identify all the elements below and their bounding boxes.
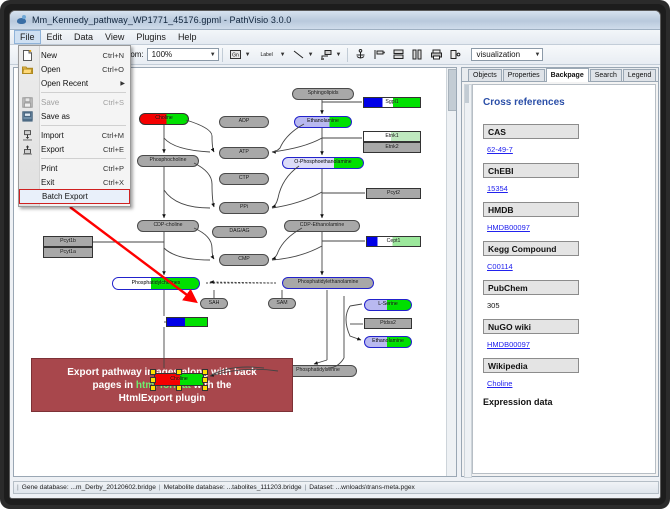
receptor-button[interactable] — [318, 46, 335, 63]
menu-data[interactable]: Data — [68, 30, 99, 44]
tab-legend[interactable]: Legend — [623, 69, 656, 81]
xref-cas: CAS 62-49-7 — [483, 124, 655, 157]
menu-item-save-label: Save — [41, 98, 59, 107]
tab-backpage[interactable]: Backpage — [546, 68, 589, 82]
submenu-arrow-icon: ▶ — [120, 80, 130, 87]
new-file-icon — [22, 50, 33, 61]
selection-handle-w[interactable] — [150, 377, 156, 383]
menu-item-export[interactable]: Export Ctrl+E — [19, 142, 130, 156]
menu-plugins[interactable]: Plugins — [130, 30, 172, 44]
menu-item-save-as[interactable]: Save as — [19, 109, 130, 123]
menu-item-batch-export-label: Batch Export — [42, 192, 88, 201]
menu-item-save[interactable]: Save Ctrl+S — [19, 95, 130, 109]
menu-item-open-accel: Ctrl+O — [102, 65, 130, 74]
statusbar-sep-1: | — [159, 484, 161, 491]
selection-handle-e[interactable] — [202, 377, 208, 383]
menu-edit[interactable]: Edit — [41, 30, 69, 44]
anchor-button[interactable] — [352, 46, 369, 63]
menu-item-print[interactable]: Print Ctrl+P — [19, 161, 130, 175]
menu-item-new[interactable]: New Ctrl+N — [19, 48, 130, 62]
pathvisio-app-icon — [16, 15, 27, 26]
node-chkb[interactable] — [166, 317, 208, 327]
save-icon — [22, 97, 33, 108]
backpage-content: Cross references CAS 62-49-7 ChEBI 15354… — [472, 84, 656, 474]
selection-handle-ne[interactable] — [202, 369, 208, 375]
menu-item-batch-export[interactable]: Batch Export — [19, 189, 130, 204]
menu-item-open-label: Open — [41, 65, 61, 74]
window-titlebar: Mm_Kennedy_pathway_WP1771_45176.gpml - P… — [10, 11, 660, 30]
backpage-scrollbar-thumb[interactable] — [465, 85, 469, 103]
menu-view[interactable]: View — [99, 30, 130, 44]
xref-wikipedia: Wikipedia Choline — [483, 358, 655, 391]
menubar[interactable]: File Edit Data View Plugins Help — [10, 30, 660, 45]
statusbar-metabolite-database: Metabolite database: ...tabolites_111203… — [164, 484, 302, 491]
xref-chebi-value[interactable]: 15354 — [487, 184, 508, 193]
datanode-dropdown-icon[interactable]: ▼ — [245, 52, 251, 58]
xref-nugo-value[interactable]: HMDB00097 — [487, 340, 530, 349]
align-cols-button[interactable] — [409, 46, 426, 63]
menu-item-exit-label: Exit — [41, 178, 54, 187]
svg-text:Gn: Gn — [232, 52, 239, 58]
toolbar-separator — [222, 48, 223, 62]
file-menu-dropdown[interactable]: New Ctrl+N Open Ctrl+O Open Recent ▶ Sav… — [18, 45, 131, 207]
chevron-down-icon-2: ▼ — [535, 52, 541, 58]
menu-item-new-label: New — [41, 51, 57, 60]
xref-pubchem-label: PubChem — [483, 280, 579, 295]
menu-item-print-label: Print — [41, 164, 57, 173]
menu-item-open-recent-label: Open Recent — [41, 79, 88, 88]
menu-item-import-accel: Ctrl+M — [102, 131, 130, 140]
menu-item-open-recent[interactable]: Open Recent ▶ — [19, 76, 130, 90]
menu-help[interactable]: Help — [172, 30, 203, 44]
canvas-scrollbar-thumb[interactable] — [448, 69, 457, 111]
xref-kegg-label: Kegg Compound — [483, 241, 579, 256]
selection-handle-se[interactable] — [202, 385, 208, 391]
align-rows-button[interactable] — [390, 46, 407, 63]
toolbar-separator-2 — [347, 48, 348, 62]
xref-nugo-wiki: NuGO wiki HMDB00097 — [483, 319, 655, 352]
visualization-value: visualization — [476, 50, 520, 59]
image-frame: Mm_Kennedy_pathway_WP1771_45176.gpml - P… — [0, 0, 670, 509]
tab-objects[interactable]: Objects — [468, 69, 502, 81]
xref-hmdb-label: HMDB — [483, 202, 579, 217]
pathvisio-window: Mm_Kennedy_pathway_WP1771_45176.gpml - P… — [9, 10, 661, 499]
xref-hmdb: HMDB HMDB00097 — [483, 202, 655, 235]
menu-item-exit-accel: Ctrl+X — [103, 178, 130, 187]
xref-kegg-compound: Kegg Compound C00114 — [483, 241, 655, 274]
xref-chebi-label: ChEBI — [483, 163, 579, 178]
menu-item-export-accel: Ctrl+E — [103, 145, 130, 154]
file-menu-separator-1 — [41, 92, 126, 93]
label-dropdown-icon[interactable]: ▼ — [280, 52, 286, 58]
xref-pubchem: PubChem 305 — [483, 280, 655, 313]
selection-handle-s[interactable] — [176, 385, 182, 391]
import-icon — [22, 130, 33, 141]
file-menu-separator-3 — [41, 158, 126, 159]
chevron-down-icon: ▼ — [210, 52, 216, 58]
selection-handle-sw[interactable] — [150, 385, 156, 391]
backpage-scrollbar[interactable] — [464, 84, 472, 478]
tab-search[interactable]: Search — [590, 69, 622, 81]
statusbar-dataset: Dataset: ...wnloads\trans-meta.pgex — [309, 484, 415, 491]
side-panel: Objects Properties Backpage Search Legen… — [461, 67, 659, 477]
align-left-button[interactable] — [371, 46, 388, 63]
line-button[interactable] — [290, 46, 307, 63]
menu-file[interactable]: File — [14, 30, 41, 44]
window-title: Mm_Kennedy_pathway_WP1771_45176.gpml - P… — [32, 15, 291, 25]
tab-properties[interactable]: Properties — [503, 69, 545, 81]
xref-kegg-value[interactable]: C00114 — [487, 262, 513, 271]
menu-item-new-accel: Ctrl+N — [103, 51, 130, 60]
xref-hmdb-value[interactable]: HMDB00097 — [487, 223, 530, 232]
cross-references-title: Cross references — [483, 97, 655, 108]
file-menu-separator-2 — [41, 125, 126, 126]
label-button-text: Label — [261, 52, 273, 58]
xref-pubchem-value: 305 — [487, 301, 500, 310]
group-button[interactable] — [447, 46, 464, 63]
selection-handle-nw[interactable] — [150, 369, 156, 375]
zoom-combo[interactable]: 100% ▼ — [147, 48, 219, 61]
save-as-icon — [22, 111, 33, 122]
xref-cas-value[interactable]: 62-49-7 — [487, 145, 513, 154]
zoom-value: 100% — [152, 50, 172, 59]
datanode-button[interactable]: Gn — [227, 46, 244, 63]
label-button[interactable]: Label — [255, 46, 279, 63]
folder-icon — [22, 64, 33, 75]
statusbar-sep-0: | — [17, 484, 19, 491]
visualization-combo[interactable]: visualization ▼ — [471, 48, 543, 61]
statusbar-gene-database: Gene database: ...m_Derby_20120602.bridg… — [22, 484, 156, 491]
xref-wikipedia-label: Wikipedia — [483, 358, 579, 373]
xref-cas-label: CAS — [483, 124, 579, 139]
statusbar-sep-2: | — [305, 484, 307, 491]
print-button[interactable] — [428, 46, 445, 63]
selection-handle-n[interactable] — [176, 369, 182, 375]
expression-data-title: Expression data — [483, 397, 655, 407]
menu-item-save-as-label: Save as — [41, 112, 70, 121]
export-icon — [22, 144, 33, 155]
menu-item-exit[interactable]: Exit Ctrl+X — [19, 175, 130, 189]
menu-item-import[interactable]: Import Ctrl+M — [19, 128, 130, 142]
receptor-dropdown-icon[interactable]: ▼ — [336, 52, 342, 58]
menu-item-open[interactable]: Open Ctrl+O — [19, 62, 130, 76]
menu-item-save-accel: Ctrl+S — [103, 98, 130, 107]
xref-chebi: ChEBI 15354 — [483, 163, 655, 196]
xref-nugo-label: NuGO wiki — [483, 319, 579, 334]
menu-item-import-label: Import — [41, 131, 64, 140]
statusbar: | Gene database: ...m_Derby_20120602.bri… — [13, 481, 659, 494]
side-panel-tabstrip[interactable]: Objects Properties Backpage Search Legen… — [462, 68, 658, 82]
line-dropdown-icon[interactable]: ▼ — [308, 52, 314, 58]
menu-item-export-label: Export — [41, 145, 64, 154]
xref-wikipedia-value[interactable]: Choline — [487, 379, 512, 388]
menu-item-print-accel: Ctrl+P — [103, 164, 130, 173]
